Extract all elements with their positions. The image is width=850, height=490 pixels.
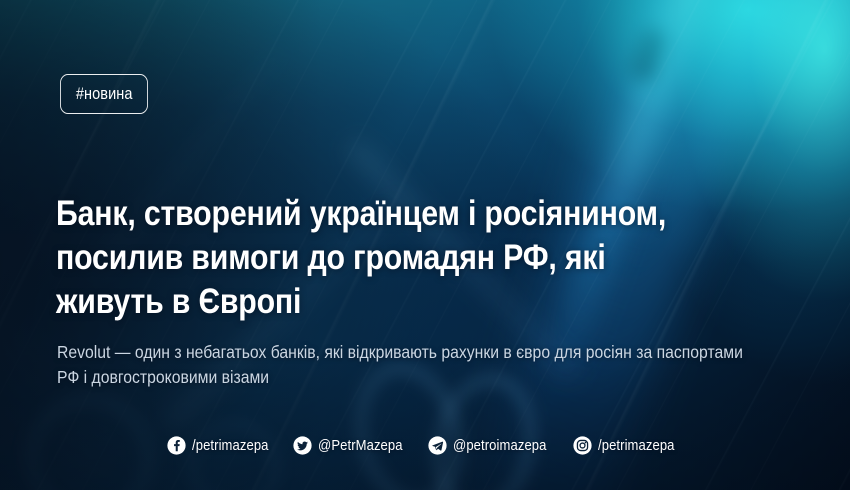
page-title: Банк, створений українцем і росіянином, … — [56, 192, 713, 324]
social-handle-twitter: @PetrMazepa — [318, 438, 403, 454]
instagram-icon — [573, 436, 592, 455]
social-handle-instagram: /petrimazepa — [598, 438, 675, 454]
social-handle-facebook: /petrimazepa — [192, 438, 269, 454]
telegram-icon — [428, 436, 447, 455]
social-links-bar: /petrimazepa @PetrMazepa @petroimazepa — [0, 436, 850, 455]
card-content: #новина Банк, створений українцем і росі… — [0, 0, 850, 490]
social-link-telegram[interactable]: @petroimazepa — [428, 436, 557, 455]
twitter-icon — [293, 436, 312, 455]
facebook-icon — [167, 436, 186, 455]
social-link-twitter[interactable]: @PetrMazepa — [293, 436, 412, 455]
social-link-instagram[interactable]: /petrimazepa — [573, 436, 683, 455]
category-tag-badge[interactable]: #новина — [60, 74, 148, 114]
social-handle-telegram: @petroimazepa — [453, 438, 547, 454]
article-subtitle: Revolut — один з небагатьох банків, які … — [57, 340, 755, 390]
news-social-card: #новина Банк, створений українцем і росі… — [0, 0, 850, 490]
social-link-facebook[interactable]: /petrimazepa — [167, 436, 277, 455]
